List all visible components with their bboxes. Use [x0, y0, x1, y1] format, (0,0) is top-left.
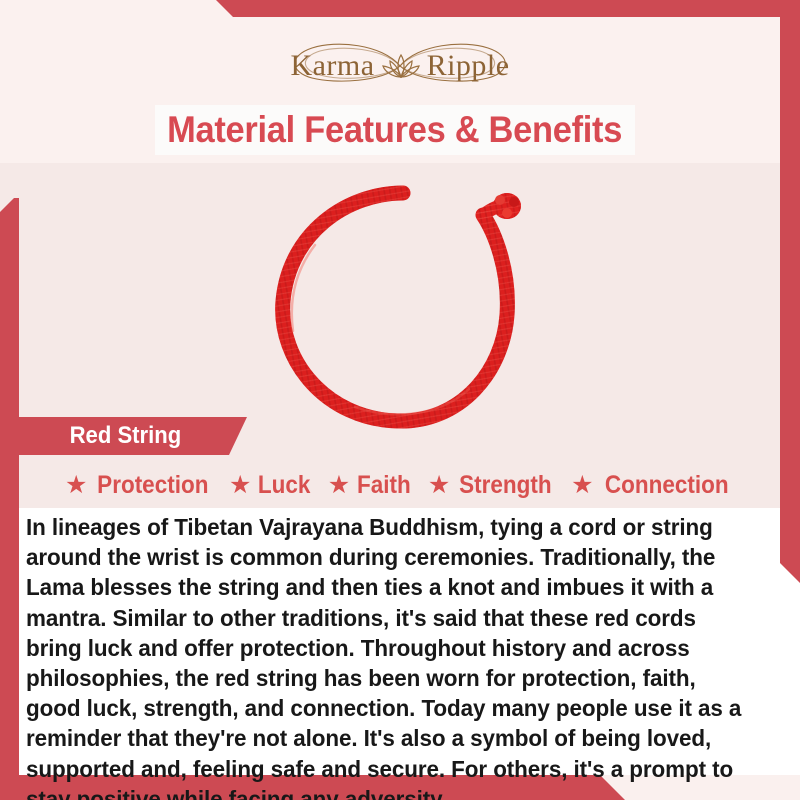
infographic-page: Karma Ripple Material Features & Benefit… — [0, 0, 800, 800]
feature-item-strength: ★ Strength — [428, 471, 557, 500]
feature-item-connection: ★ Connection — [571, 471, 735, 500]
feature-label: Faith — [357, 471, 411, 500]
star-icon: ★ — [428, 473, 450, 498]
bracelet-illustration — [255, 175, 545, 440]
page-title: Material Features & Benefits — [168, 109, 623, 151]
feature-label: Strength — [459, 471, 552, 500]
page-title-box: Material Features & Benefits — [155, 105, 635, 155]
star-icon: ★ — [229, 473, 251, 498]
feature-list: ★ Protection ★ Luck ★ Faith ★ Strength ★… — [0, 465, 800, 505]
material-banner-label: Red String — [19, 422, 181, 450]
logo-text: Karma Ripple — [288, 49, 511, 83]
feature-item-protection: ★ Protection — [65, 471, 215, 500]
star-icon: ★ — [65, 473, 87, 498]
feature-label: Protection — [98, 471, 209, 500]
feature-item-faith: ★ Faith — [328, 471, 414, 500]
product-image-bracelet — [255, 175, 545, 440]
logo-word-karma: Karma — [288, 51, 376, 81]
logo-word-ripple: Ripple — [425, 51, 512, 81]
bracelet-knot — [493, 193, 521, 219]
star-icon: ★ — [328, 473, 350, 498]
feature-item-luck: ★ Luck — [229, 471, 314, 500]
feature-label: Luck — [258, 471, 311, 500]
lotus-icon — [381, 49, 421, 83]
feature-label: Connection — [604, 471, 728, 500]
description-text: In lineages of Tibetan Vajrayana Buddhis… — [26, 512, 744, 800]
star-icon: ★ — [571, 473, 593, 498]
material-banner: Red String — [19, 417, 247, 455]
brand-logo: Karma Ripple — [0, 38, 800, 94]
